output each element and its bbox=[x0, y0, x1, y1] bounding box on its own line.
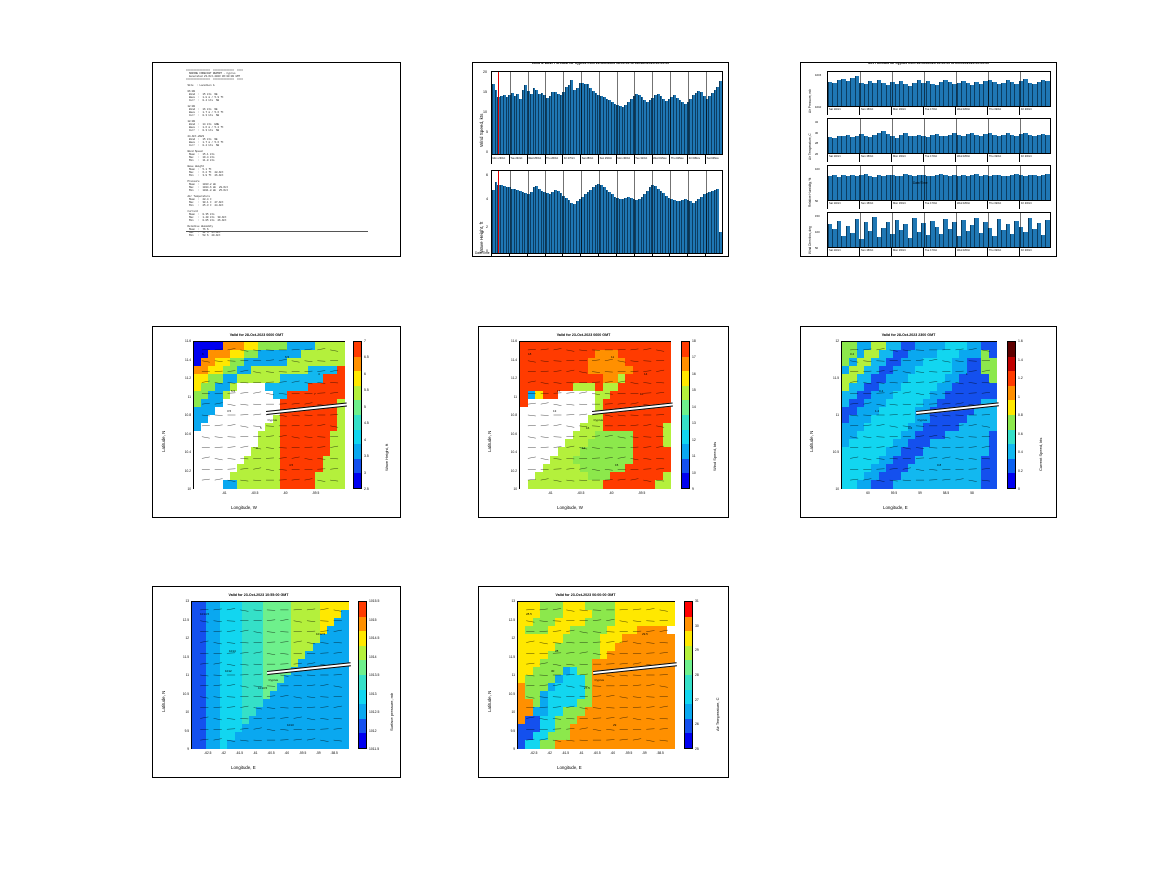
map-ytick: 9 bbox=[502, 747, 515, 751]
colorbar-segment bbox=[685, 602, 692, 617]
contour-label: 6 bbox=[202, 352, 204, 356]
met-xtick-box: Sat 14Oct bbox=[827, 201, 859, 209]
xtick-label: Thu 26Oct bbox=[546, 157, 558, 160]
colorbar-title: Air Temperature, C bbox=[715, 698, 720, 732]
colorbar-segment bbox=[682, 371, 689, 386]
panel-air-temperature-map: Valid for 23-Oct-2023 06:00:00 GMT Latit… bbox=[478, 586, 729, 778]
map-ytick: 12 bbox=[826, 339, 839, 343]
xtick-box: Tue 24Oct bbox=[509, 155, 527, 164]
site-label: Cyprus bbox=[594, 418, 604, 422]
map-ytick: 10.6 bbox=[504, 432, 517, 436]
met-ylabel-1: Air Temperature, C bbox=[808, 133, 812, 160]
met-xtick-label: Mon 16Oct bbox=[893, 155, 906, 158]
map-xtick: -60 bbox=[278, 491, 292, 495]
map-ytick: 10.4 bbox=[178, 450, 191, 454]
colorbar-tick: 4 bbox=[364, 438, 366, 442]
colorbar-title: Current Speed, kts bbox=[1038, 438, 1043, 471]
colorbar-title: Wind Speed, kts bbox=[712, 442, 717, 471]
contour-label: 3 bbox=[256, 446, 258, 450]
panel-current-speed-map: Valid for 28-Oct-2023 2300 GMT Latitude,… bbox=[800, 326, 1057, 518]
colorbar-segment bbox=[682, 459, 689, 474]
map-xtick: -62.5 bbox=[201, 751, 215, 755]
xtick-label: Wed 01Nov bbox=[653, 157, 667, 160]
xtick-box: Sat 28Oct bbox=[580, 155, 598, 164]
colorbar-segment bbox=[682, 444, 689, 459]
colorbar-tick: 30 bbox=[695, 624, 699, 628]
colorbar-segment bbox=[1008, 430, 1015, 445]
xtick-box: Sun 29Oct bbox=[598, 155, 616, 164]
met-ylabel-2: Relative Humidity, % bbox=[808, 178, 812, 207]
xtick-label: Sat 28Oct bbox=[582, 256, 594, 258]
map-ytick: 11.2 bbox=[504, 376, 517, 380]
colorbar-tick: 0 bbox=[1018, 487, 1020, 491]
map-xtick: -60.5 bbox=[590, 751, 604, 755]
map-xtick: -59 bbox=[637, 751, 651, 755]
wind-speed-now-marker bbox=[498, 72, 499, 154]
wave-ytick-6: 6 bbox=[486, 173, 488, 177]
met-xlabel: Date/Time bbox=[913, 181, 928, 185]
pressure-map-xlabel: Longitude, E bbox=[231, 765, 256, 770]
xtick-label: Mon 23Oct bbox=[493, 157, 506, 160]
contour-label: 1.2 bbox=[875, 409, 879, 413]
xtick-label: Fri 03Nov bbox=[689, 256, 700, 258]
map-xtick: -59.5 bbox=[309, 491, 323, 495]
xtick-label: Fri 27Oct bbox=[564, 157, 575, 160]
xtick-box: Sat 04Nov bbox=[705, 155, 723, 164]
wind-speed-plotbox bbox=[491, 71, 723, 155]
colorbar-tick: 7 bbox=[364, 339, 366, 343]
met-xtick-label: Wed 18Oct bbox=[957, 155, 970, 158]
text-divider bbox=[186, 231, 368, 232]
map-xtick: 58.5 bbox=[939, 491, 953, 495]
colorbar-segment bbox=[685, 675, 692, 690]
pressure-map-ylabel: Latitude, N bbox=[161, 691, 166, 712]
contour-label: 27.5 bbox=[584, 686, 590, 690]
map-xtick: -61 bbox=[217, 491, 231, 495]
met-xtick-box: Thu 19Oct bbox=[987, 107, 1019, 115]
xtick-label: Wed 25Oct bbox=[528, 256, 541, 258]
panel-wind-speed-map: Valid for 23-Oct-2023 0600 GMT Latitude,… bbox=[478, 326, 729, 518]
map-ytick: 11.2 bbox=[178, 376, 191, 380]
map-ytick: 10.4 bbox=[504, 450, 517, 454]
contour-label: 1013 bbox=[287, 723, 294, 727]
map-ytick: 13 bbox=[176, 599, 189, 603]
xtick-label: Mon 23Oct bbox=[493, 256, 506, 258]
map-xtick: -60.5 bbox=[248, 491, 262, 495]
contour-label: 5.5 bbox=[231, 389, 235, 393]
map-ytick: 10.5 bbox=[826, 450, 839, 454]
met-xtick-box: Fri 20Oct bbox=[1019, 154, 1051, 162]
xtick-label: Tue 31Oct bbox=[635, 157, 647, 160]
map-ytick: 12 bbox=[502, 636, 515, 640]
vector-field bbox=[842, 342, 996, 488]
contour-label: 6.5 bbox=[285, 355, 289, 359]
contour-label: 18 bbox=[528, 352, 531, 356]
colorbar-segment bbox=[685, 704, 692, 719]
colorbar-tick: 3.5 bbox=[364, 454, 369, 458]
colorbar-segment bbox=[682, 430, 689, 445]
wave-map-plotbox: Cyprus65.554.543.536.57 bbox=[193, 341, 345, 489]
xtick-label: Tue 31Oct bbox=[635, 256, 647, 258]
bar bbox=[1045, 220, 1049, 247]
colorbar-tick: 18 bbox=[692, 339, 696, 343]
xtick-box: Fri 27Oct bbox=[562, 254, 580, 257]
map-xtick: 59.5 bbox=[887, 491, 901, 495]
met-xtick-box: Sun 15Oct bbox=[859, 154, 891, 162]
map-ytick: 10.8 bbox=[178, 413, 191, 417]
colorbar-tick: 0.4 bbox=[1018, 450, 1023, 454]
colorbar-segment bbox=[1008, 342, 1015, 357]
met-xtick-label: Sat 14Oct bbox=[829, 108, 841, 111]
temp-map-xlabel: Longitude, E bbox=[557, 765, 582, 770]
map-xtick: -60.5 bbox=[574, 491, 588, 495]
wave-ytick-2: 2 bbox=[486, 225, 488, 229]
site-label: Cyprus bbox=[917, 418, 927, 422]
wind-speed-ylabel: Wind Speed, kts bbox=[479, 114, 484, 147]
colorbar-tick: 1012.5 bbox=[369, 710, 379, 714]
contour-label: 14 bbox=[644, 372, 647, 376]
map-xtick: -61 bbox=[543, 491, 557, 495]
wind-wave-xlabel: Date/Time bbox=[475, 251, 490, 255]
wind-ytick-20: 20 bbox=[483, 70, 487, 74]
xtick-box: Wed 01Nov bbox=[652, 254, 670, 257]
xtick-label: Sat 04Nov bbox=[707, 157, 719, 160]
contour-label: 12 bbox=[582, 446, 585, 450]
colorbar-tick: 6 bbox=[364, 372, 366, 376]
map-ytick: 12.5 bbox=[176, 618, 189, 622]
colorbar-segment bbox=[682, 400, 689, 415]
colorbar-segment bbox=[682, 386, 689, 401]
met-xtick-label: Thu 19Oct bbox=[989, 155, 1001, 158]
met-xtick-label: Fri 20Oct bbox=[1021, 202, 1032, 205]
met-xtick-box: Mon 16Oct bbox=[891, 107, 923, 115]
met-ytick: 50 bbox=[815, 199, 818, 203]
map-xtick: -61 bbox=[248, 751, 262, 755]
panel-met-forecast: Met Forecast for Cyprus from 13-Oct-2023… bbox=[800, 62, 1057, 257]
met-bars-0 bbox=[828, 72, 1050, 106]
met-xtick-box: Tue 17Oct bbox=[923, 248, 955, 256]
wave-height-now-marker bbox=[498, 171, 499, 253]
colorbar-tick: 1.4 bbox=[1018, 358, 1023, 362]
contour-label: 15 bbox=[615, 463, 618, 467]
met-bars-1 bbox=[828, 119, 1050, 153]
colorbar-segment bbox=[359, 617, 366, 632]
met-xtick-label: Tue 17Oct bbox=[925, 155, 937, 158]
map-xtick: -59 bbox=[311, 751, 325, 755]
bar bbox=[719, 232, 722, 253]
temp-map-ylabel: Latitude, N bbox=[487, 691, 492, 712]
contour-label: 30 bbox=[551, 669, 554, 673]
map-xtick: -58.5 bbox=[653, 751, 667, 755]
met-xtick-box: Sun 15Oct bbox=[859, 248, 891, 256]
met-plotbox-0 bbox=[827, 71, 1051, 107]
xtick-label: Sat 28Oct bbox=[582, 157, 594, 160]
met-xtick-label: Thu 19Oct bbox=[989, 108, 1001, 111]
xtick-box: Wed 25Oct bbox=[527, 254, 545, 257]
met-xtick-label: Tue 17Oct bbox=[925, 202, 937, 205]
colorbar-tick: 13 bbox=[692, 421, 696, 425]
contour-label: 4 bbox=[318, 372, 320, 376]
met-ytick: 1015 bbox=[815, 73, 821, 77]
map-ytick: 11.6 bbox=[178, 339, 191, 343]
map-xtick: -62 bbox=[543, 751, 557, 755]
met-xtick-box: Sun 15Oct bbox=[859, 201, 891, 209]
colorbar-segment bbox=[354, 444, 361, 459]
xtick-box: Thu 02Nov bbox=[669, 254, 687, 257]
colorbar-segment bbox=[685, 646, 692, 661]
met-xtick-label: Tue 17Oct bbox=[925, 249, 937, 252]
map-ytick: 12 bbox=[176, 636, 189, 640]
wind-ytick-5: 5 bbox=[486, 130, 488, 134]
xtick-box: Thu 26Oct bbox=[545, 254, 563, 257]
colorbar bbox=[1007, 341, 1016, 489]
colorbar-tick: 10 bbox=[692, 471, 696, 475]
map-xtick: -59.5 bbox=[296, 751, 310, 755]
xtick-box: Sun 29Oct bbox=[598, 254, 616, 257]
xtick-box: Mon 23Oct bbox=[491, 254, 509, 257]
map-ytick: 11 bbox=[826, 413, 839, 417]
colorbar-tick: 0.8 bbox=[1018, 413, 1023, 417]
colorbar-tick: 1 bbox=[1018, 395, 1020, 399]
met-xtick-label: Sun 15Oct bbox=[861, 108, 873, 111]
colorbar-segment bbox=[682, 473, 689, 488]
map-ytick: 10 bbox=[504, 487, 517, 491]
colorbar-tick: 28 bbox=[695, 673, 699, 677]
map-ytick: 10.8 bbox=[504, 413, 517, 417]
colorbar-tick: 1014.5 bbox=[369, 636, 379, 640]
map-ytick: 9.5 bbox=[176, 729, 189, 733]
colorbar-tick: 15 bbox=[692, 388, 696, 392]
met-xtick-box: Sat 14Oct bbox=[827, 248, 859, 256]
colorbar-segment bbox=[685, 617, 692, 632]
xtick-box: Thu 02Nov bbox=[669, 155, 687, 164]
xtick-box: Thu 26Oct bbox=[545, 155, 563, 164]
contour-label: 29.5 bbox=[642, 632, 648, 636]
contour-label: 10 bbox=[640, 392, 643, 396]
map-xtick: -61.5 bbox=[558, 751, 572, 755]
colorbar-tick: 4.5 bbox=[364, 421, 369, 425]
xtick-box: Sat 04Nov bbox=[705, 254, 723, 257]
met-ytick: 150 bbox=[815, 214, 820, 218]
colorbar-tick: 16 bbox=[692, 372, 696, 376]
xtick-box: Mon 23Oct bbox=[491, 155, 509, 164]
colorbar-segment bbox=[359, 631, 366, 646]
bar bbox=[1045, 135, 1049, 153]
colorbar-segment bbox=[1008, 459, 1015, 474]
colorbar-segment bbox=[1008, 444, 1015, 459]
bar bbox=[1045, 174, 1049, 200]
map-ytick: 11.5 bbox=[826, 376, 839, 380]
vector-field bbox=[518, 602, 674, 748]
xtick-box: Fri 27Oct bbox=[562, 155, 580, 164]
map-ytick: 11.5 bbox=[502, 655, 515, 659]
met-ytick: 32 bbox=[815, 120, 818, 124]
map-ytick: 11 bbox=[504, 395, 517, 399]
contour-label: 5 bbox=[260, 426, 262, 430]
met-ylabel-0: Air Pressure, mb bbox=[808, 89, 812, 113]
met-xtick-box: Wed 18Oct bbox=[955, 107, 987, 115]
current-map-plotbox: Cyprus0.20.40.60.811.2 bbox=[841, 341, 997, 489]
met-ytick: 26 bbox=[815, 152, 818, 156]
met-xtick-box: Sun 15Oct bbox=[859, 107, 891, 115]
met-xtick-box: Thu 19Oct bbox=[987, 201, 1019, 209]
met-xtick-label: Tue 17Oct bbox=[925, 108, 937, 111]
colorbar-tick: 6.5 bbox=[364, 355, 369, 359]
colorbar-segment bbox=[1008, 400, 1015, 415]
wave-ytick-4: 4 bbox=[486, 197, 488, 201]
colorbar bbox=[358, 601, 367, 749]
met-xtick-box: Mon 16Oct bbox=[891, 248, 923, 256]
met-ytick: 50 bbox=[815, 246, 818, 250]
met-xtick-label: Fri 20Oct bbox=[1021, 108, 1032, 111]
colorbar-segment bbox=[354, 473, 361, 488]
xtick-label: Wed 25Oct bbox=[528, 157, 541, 160]
vector-field bbox=[194, 342, 344, 488]
colorbar-segment bbox=[359, 602, 366, 617]
map-ytick: 11 bbox=[178, 395, 191, 399]
colorbar-tick: 1.6 bbox=[1018, 339, 1023, 343]
colorbar-segment bbox=[354, 415, 361, 430]
xtick-label: Tue 24Oct bbox=[510, 256, 522, 258]
xtick-label: Fri 27Oct bbox=[564, 256, 575, 258]
colorbar-tick: 1012 bbox=[369, 729, 377, 733]
colorbar-tick: 29 bbox=[695, 648, 699, 652]
current-map-ylabel: Latitude, N bbox=[809, 431, 814, 452]
xtick-box: Mon 30Oct bbox=[616, 155, 634, 164]
colorbar-tick: 0.2 bbox=[1018, 469, 1023, 473]
map-ytick: 11.6 bbox=[504, 339, 517, 343]
colorbar-tick: 12 bbox=[692, 438, 696, 442]
colorbar-segment bbox=[359, 660, 366, 675]
met-xtick-box: Thu 19Oct bbox=[987, 154, 1019, 162]
contour-label: 16 bbox=[586, 426, 589, 430]
met-ytick: 100 bbox=[815, 167, 820, 171]
colorbar-segment bbox=[359, 704, 366, 719]
map-ytick: 10.2 bbox=[178, 469, 191, 473]
met-plotbox-3 bbox=[827, 212, 1051, 248]
xtick-label: Wed 01Nov bbox=[653, 256, 667, 258]
pressure-map-title: Valid for 23-Oct-2023 10:55:00 GMT bbox=[152, 593, 400, 597]
contour-label: 28 bbox=[555, 649, 558, 653]
colorbar-segment bbox=[354, 459, 361, 474]
xtick-label: Thu 26Oct bbox=[546, 256, 558, 258]
xtick-box: Fri 03Nov bbox=[687, 155, 705, 164]
colorbar-segment bbox=[354, 342, 361, 357]
temp-map-title: Valid for 23-Oct-2023 06:00:00 GMT bbox=[478, 593, 728, 597]
map-ytick: 10 bbox=[502, 710, 515, 714]
colorbar-tick: 5.5 bbox=[364, 388, 369, 392]
colorbar bbox=[353, 341, 362, 489]
map-ytick: 9.5 bbox=[502, 729, 515, 733]
xtick-box: Sat 28Oct bbox=[580, 254, 598, 257]
wind-ytick-15: 15 bbox=[483, 90, 487, 94]
met-xtick-label: Sun 15Oct bbox=[861, 155, 873, 158]
map-ytick: 11 bbox=[176, 673, 189, 677]
colorbar-segment bbox=[685, 690, 692, 705]
contour-label: 0.6 bbox=[908, 426, 912, 430]
xtick-box: Mon 30Oct bbox=[616, 254, 634, 257]
colorbar-title: Surface pressure, mb bbox=[389, 693, 394, 731]
map-xtick: -60 bbox=[604, 491, 618, 495]
met-xtick-box: Tue 17Oct bbox=[923, 107, 955, 115]
contour-label: 4.5 bbox=[289, 463, 293, 467]
xtick-label: Sat 04Nov bbox=[707, 256, 719, 258]
map-ytick: 11 bbox=[502, 673, 515, 677]
contour-label: 1014.5 bbox=[200, 612, 209, 616]
met-ytick: 28 bbox=[815, 141, 818, 145]
met-xtick-box: Fri 20Oct bbox=[1019, 248, 1051, 256]
colorbar-tick: 25 bbox=[695, 747, 699, 751]
met-xtick-label: Mon 16Oct bbox=[893, 249, 906, 252]
colorbar-tick: 1011.5 bbox=[369, 747, 379, 751]
colorbar-tick: 14 bbox=[692, 405, 696, 409]
colorbar-segment bbox=[682, 357, 689, 372]
colorbar bbox=[681, 341, 690, 489]
met-ytick: 100 bbox=[815, 230, 820, 234]
vector-field bbox=[520, 342, 670, 488]
map-ytick: 10 bbox=[826, 487, 839, 491]
met-xtick-label: Thu 19Oct bbox=[989, 202, 1001, 205]
met-xtick-label: Sat 14Oct bbox=[829, 249, 841, 252]
met-forecast-title: Met Forecast for Cyprus from 13-Oct-2023… bbox=[801, 62, 1056, 65]
wind-map-plotbox: Cyprus181716151413121110 bbox=[519, 341, 671, 489]
met-xtick-label: Fri 20Oct bbox=[1021, 155, 1032, 158]
map-xtick: 60 bbox=[861, 491, 875, 495]
met-xtick-label: Mon 16Oct bbox=[893, 108, 906, 111]
colorbar-tick: 31 bbox=[695, 599, 699, 603]
contour-label: 0.4 bbox=[879, 389, 883, 393]
met-xtick-box: Wed 18Oct bbox=[955, 154, 987, 162]
contour-label: 11 bbox=[611, 355, 614, 359]
site-label: Cyprus bbox=[268, 678, 278, 682]
colorbar-tick: 3 bbox=[364, 471, 366, 475]
contour-label: 1012 bbox=[225, 669, 232, 673]
contour-label: 0.2 bbox=[850, 352, 854, 356]
xtick-box: Fri 03Nov bbox=[687, 254, 705, 257]
xtick-label: Mon 30Oct bbox=[617, 256, 630, 258]
map-xtick: -60 bbox=[280, 751, 294, 755]
met-xtick-box: Sat 14Oct bbox=[827, 154, 859, 162]
contour-label: 0.8 bbox=[937, 463, 941, 467]
contour-label: 1 bbox=[966, 372, 968, 376]
colorbar-segment bbox=[1008, 386, 1015, 401]
contour-label: 29 bbox=[613, 723, 616, 727]
contour-label: 17 bbox=[557, 389, 560, 393]
contour-label: 7 bbox=[314, 392, 316, 396]
map-ytick: 10 bbox=[178, 487, 191, 491]
wave-map-title: Valid for 28-Oct-2023 0600 GMT bbox=[152, 333, 400, 337]
map-xtick: -62.5 bbox=[527, 751, 541, 755]
colorbar-tick: 9 bbox=[692, 487, 694, 491]
current-map-title: Valid for 28-Oct-2023 2300 GMT bbox=[800, 333, 1056, 337]
colorbar-tick: 5 bbox=[364, 405, 366, 409]
colorbar-segment bbox=[682, 342, 689, 357]
met-xtick-label: Fri 20Oct bbox=[1021, 249, 1032, 252]
colorbar-tick: 2.5 bbox=[364, 487, 369, 491]
wind-ytick-0: 0 bbox=[486, 150, 488, 154]
met-xtick-label: Wed 18Oct bbox=[957, 108, 970, 111]
map-xtick: -61.5 bbox=[232, 751, 246, 755]
xtick-box: Tue 31Oct bbox=[634, 155, 652, 164]
colorbar-tick: 1013 bbox=[369, 692, 377, 696]
contour-label: 13 bbox=[553, 409, 556, 413]
met-xtick-box: Thu 19Oct bbox=[987, 248, 1019, 256]
met-xtick-label: Sat 14Oct bbox=[829, 155, 841, 158]
forecast-text-body: ================ ============== ==== MAR… bbox=[186, 69, 243, 237]
map-ytick: 9 bbox=[176, 747, 189, 751]
colorbar-segment bbox=[685, 660, 692, 675]
met-plotbox-1 bbox=[827, 118, 1051, 154]
